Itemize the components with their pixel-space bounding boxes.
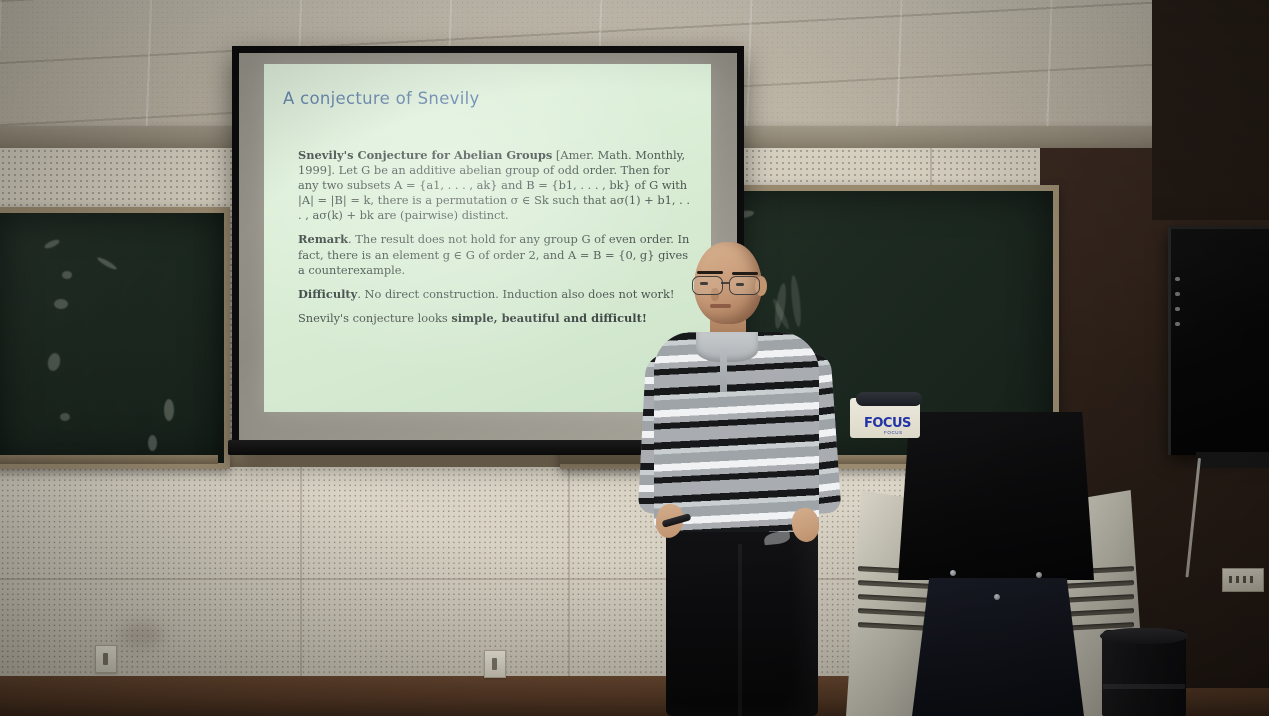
projector-brand-label: FOCUS (864, 416, 911, 431)
slide-paragraph-difficulty: Difficulty. No direct construction. Indu… (298, 287, 693, 302)
pants-logo (763, 531, 790, 546)
tv-screen-glints (1175, 277, 1182, 347)
chalkboard-left (0, 207, 230, 469)
projector-unit[interactable]: FOCUS FOCUS (850, 398, 920, 438)
wall-outlet[interactable] (484, 650, 506, 678)
projector-brand-sublabel: FOCUS (884, 430, 903, 435)
slide-paragraph-closing: Snevily's conjecture looks simple, beaut… (298, 311, 693, 326)
slide-text-remark: . The result does not hold for any group… (298, 232, 689, 276)
wall-outlet[interactable] (1222, 568, 1264, 592)
wall-television[interactable] (1168, 226, 1269, 455)
presenter-placket (720, 348, 727, 392)
presenter-speaker (640, 236, 855, 716)
presenter-torso (654, 332, 819, 532)
slide-lead-snevily: Snevily's Conjecture for Abelian Groups (298, 148, 552, 162)
presenter-glasses (692, 276, 766, 293)
presenter-mouth (710, 304, 731, 308)
wall-panel-seam (300, 462, 302, 690)
chalk-tray-left (0, 455, 218, 464)
podium-monitor-panel[interactable] (898, 412, 1094, 580)
right-dark-wall-upper (1152, 0, 1269, 220)
lecture-hall-photo: A conjecture of Snevily Snevily's Conjec… (0, 0, 1269, 716)
presenter-legs (666, 518, 818, 716)
presenter-collar (696, 332, 758, 362)
trash-bin-lid (1100, 628, 1188, 644)
projector-lid (856, 392, 922, 406)
tv-stand (1196, 452, 1269, 468)
slide-lead-difficulty: Difficulty (298, 287, 357, 301)
lecture-podium[interactable]: FOCUS FOCUS (846, 398, 1146, 716)
slide-closing-bold: simple, beautiful and difficult! (451, 311, 647, 325)
wall-panel-seam (568, 462, 570, 690)
slide-paragraph-conjecture: Snevily's Conjecture for Abelian Groups … (298, 148, 693, 223)
slide-body: Snevily's Conjecture for Abelian Groups … (298, 148, 693, 335)
slide-closing-plain: Snevily's conjecture looks (298, 311, 451, 325)
slide-paragraph-remark: Remark. The result does not hold for any… (298, 232, 693, 277)
trash-bin-band (1103, 684, 1185, 689)
slide-lead-remark: Remark (298, 232, 348, 246)
slide-text-difficulty: . No direct construction. Induction also… (357, 287, 674, 301)
slide-title: A conjecture of Snevily (283, 89, 480, 108)
wall-smudge (120, 622, 164, 648)
wall-outlet[interactable] (95, 645, 117, 673)
